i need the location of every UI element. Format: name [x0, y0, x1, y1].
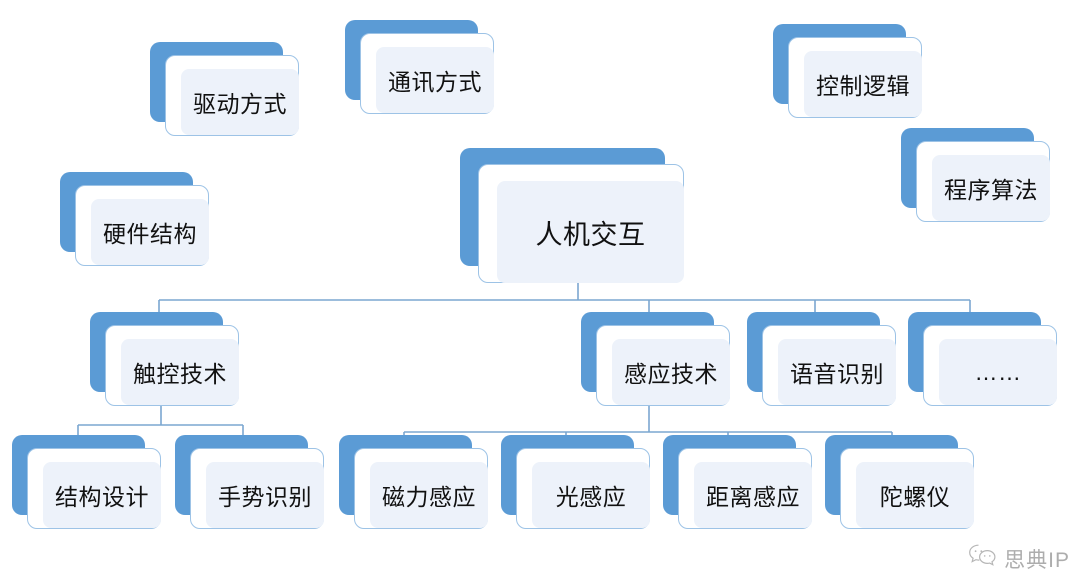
- node-label: 控制逻辑: [804, 51, 922, 117]
- node-label: ……: [939, 339, 1057, 405]
- node-label: 触控技术: [121, 339, 239, 405]
- node-card: 手势识别: [190, 448, 324, 529]
- node-label: 光感应: [532, 462, 650, 528]
- node-label: 结构设计: [43, 462, 161, 528]
- diagram-canvas: 驱动方式 通讯方式 控制逻辑 程序算法 硬件结构: [0, 0, 1080, 586]
- node-inner-fill: 结构设计: [43, 462, 161, 528]
- node-inner-fill: 程序算法: [932, 155, 1050, 221]
- node-card: 驱动方式: [165, 55, 299, 136]
- node-inner-fill: 距离感应: [694, 462, 812, 528]
- node-label: 硬件结构: [91, 199, 209, 265]
- node-card: 控制逻辑: [788, 37, 922, 118]
- node-inner-fill: 人机交互: [497, 181, 684, 283]
- node-card: 结构设计: [27, 448, 161, 529]
- node-inner-fill: 触控技术: [121, 339, 239, 405]
- watermark-text: 思典IP: [1004, 544, 1070, 574]
- node-card: 触控技术: [105, 325, 239, 406]
- node-card: 硬件结构: [75, 185, 209, 266]
- node-card: 磁力感应: [354, 448, 488, 529]
- node-inner-fill: ……: [939, 339, 1057, 405]
- node-inner-fill: 感应技术: [612, 339, 730, 405]
- node-inner-fill: 驱动方式: [181, 69, 299, 135]
- wechat-icon: [968, 543, 998, 574]
- node-inner-fill: 光感应: [532, 462, 650, 528]
- node-label: 人机交互: [497, 181, 684, 283]
- node-inner-fill: 语音识别: [778, 339, 896, 405]
- node-card: 感应技术: [596, 325, 730, 406]
- node-inner-fill: 手势识别: [206, 462, 324, 528]
- node-inner-fill: 磁力感应: [370, 462, 488, 528]
- node-label: 陀螺仪: [856, 462, 974, 528]
- node-inner-fill: 硬件结构: [91, 199, 209, 265]
- node-card: 光感应: [516, 448, 650, 529]
- node-label: 语音识别: [778, 339, 896, 405]
- node-card: 距离感应: [678, 448, 812, 529]
- node-card: 人机交互: [478, 164, 684, 283]
- node-label: 通讯方式: [376, 47, 494, 113]
- node-card: 程序算法: [916, 141, 1050, 222]
- watermark: 思典IP: [968, 543, 1070, 574]
- node-card: 通讯方式: [360, 33, 494, 114]
- node-card: 语音识别: [762, 325, 896, 406]
- node-label: 手势识别: [206, 462, 324, 528]
- node-label: 距离感应: [694, 462, 812, 528]
- node-inner-fill: 通讯方式: [376, 47, 494, 113]
- node-label: 感应技术: [612, 339, 730, 405]
- node-label: 程序算法: [932, 155, 1050, 221]
- node-inner-fill: 控制逻辑: [804, 51, 922, 117]
- node-inner-fill: 陀螺仪: [856, 462, 974, 528]
- node-card: 陀螺仪: [840, 448, 974, 529]
- node-card: ……: [923, 325, 1057, 406]
- node-label: 磁力感应: [370, 462, 488, 528]
- node-label: 驱动方式: [181, 69, 299, 135]
